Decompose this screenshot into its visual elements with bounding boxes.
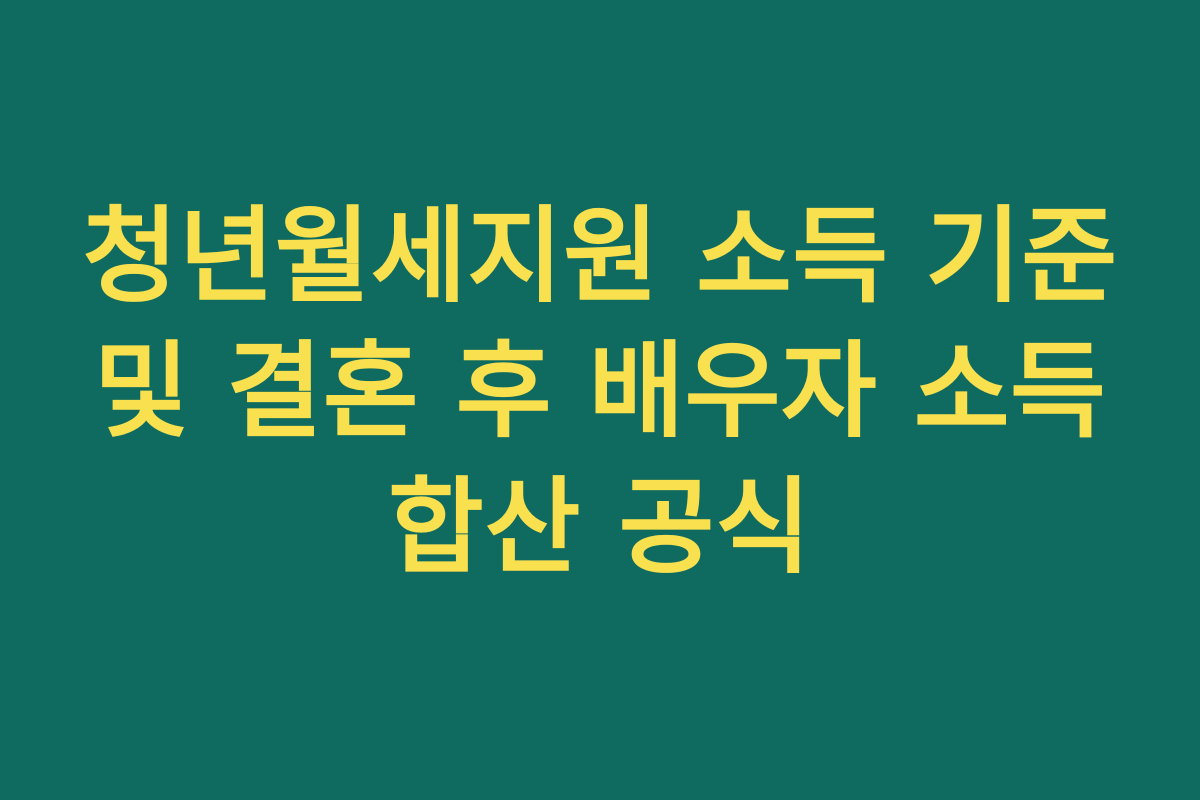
thumbnail-card: 청년월세지원 소득 기준 및 결혼 후 배우자 소득 합산 공식: [0, 0, 1200, 800]
headline-block: 청년월세지원 소득 기준 및 결혼 후 배우자 소득 합산 공식: [40, 189, 1160, 595]
headline-line-3: 합산 공식: [40, 460, 1160, 595]
headline-line-1: 청년월세지원 소득 기준: [40, 189, 1160, 324]
headline-line-2: 및 결혼 후 배우자 소득: [40, 324, 1160, 459]
